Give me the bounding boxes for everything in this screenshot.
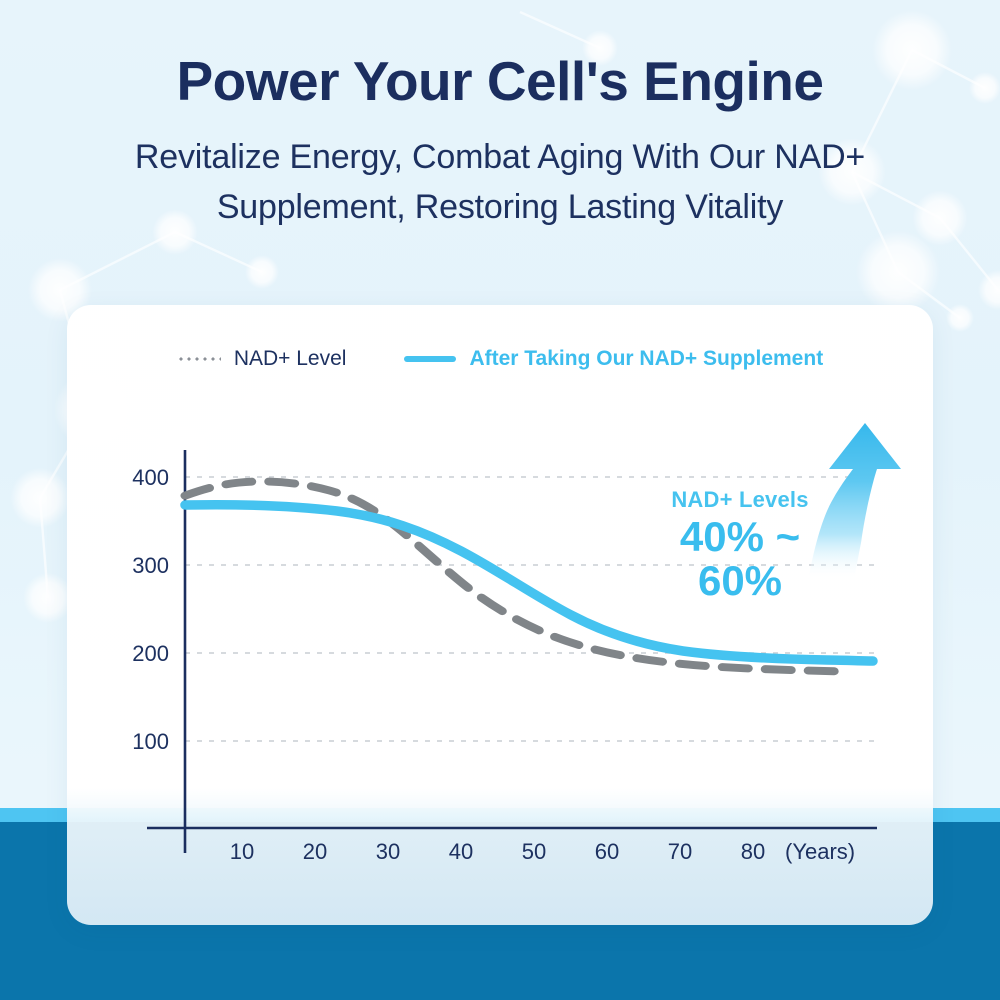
x-tick-label: 10 <box>212 839 272 865</box>
page-title: Power Your Cell's Engine <box>0 52 1000 111</box>
growth-annotation: NAD+ Levels 40% ~ 60% <box>635 487 845 603</box>
y-tick-label: 200 <box>89 641 169 667</box>
x-tick-label: 50 <box>504 839 564 865</box>
x-axis-unit-label: (Years) <box>785 839 875 865</box>
x-tick-label: 70 <box>650 839 710 865</box>
y-tick-label: 400 <box>89 465 169 491</box>
y-tick-label: 300 <box>89 553 169 579</box>
chart-card: NAD+ Level After Taking Our NAD+ Supplem… <box>67 305 933 925</box>
x-tick-label: 60 <box>577 839 637 865</box>
header-block: Power Your Cell's Engine Revitalize Ener… <box>0 52 1000 232</box>
annotation-caption: NAD+ Levels <box>635 487 845 513</box>
page-subtitle: Revitalize Energy, Combat Aging With Our… <box>0 133 1000 232</box>
x-tick-label: 80 <box>723 839 783 865</box>
annotation-value: 40% ~ 60% <box>635 515 845 603</box>
chart-plot <box>67 305 933 925</box>
x-tick-label: 40 <box>431 839 491 865</box>
x-tick-label: 20 <box>285 839 345 865</box>
y-tick-label: 100 <box>89 729 169 755</box>
x-tick-label: 30 <box>358 839 418 865</box>
